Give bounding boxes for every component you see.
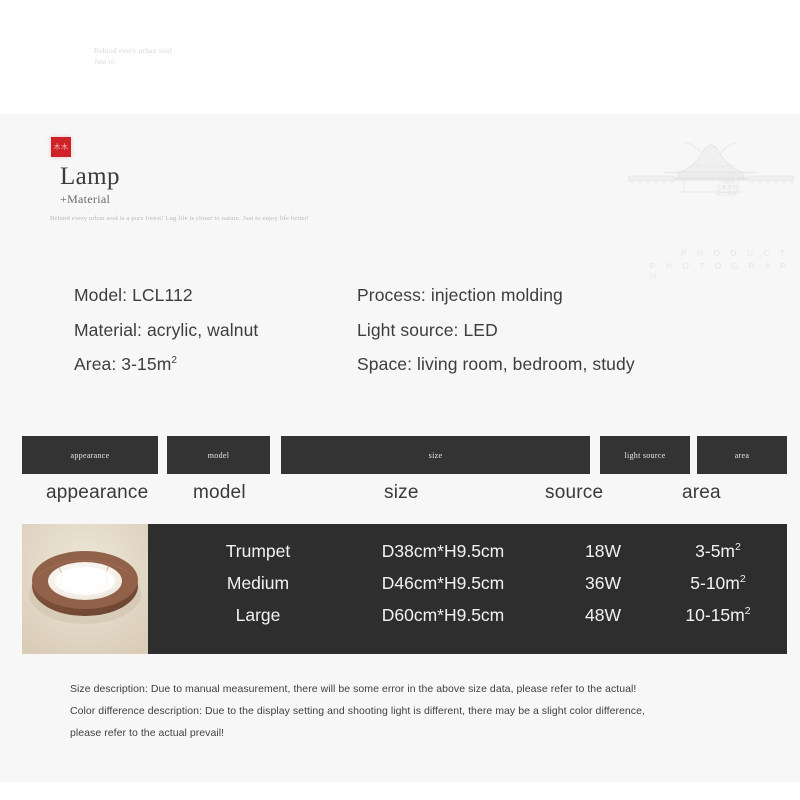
table-row: 5-10m2: [663, 575, 773, 593]
cell-area-sup-1: 2: [735, 541, 741, 553]
spec-area-text: Area: 3-15: [74, 354, 157, 374]
product-watermark-line2: P H O T O G R A P H: [650, 261, 800, 281]
table-row: 3-5m2: [663, 543, 773, 561]
cell-area-sup-3: 2: [745, 605, 751, 617]
table-row: D46cm*H9.5cm: [328, 575, 558, 593]
table-row: 48W: [558, 607, 648, 625]
top-white-strip: Behind every urban soul Just to: [0, 0, 800, 114]
table-row: 18W: [558, 543, 648, 561]
spec-area-sup: 2: [171, 355, 177, 366]
footer-note: Size description: Due to manual measurem…: [70, 678, 760, 744]
cell-power-3: 48W: [585, 605, 621, 625]
spec-process: Process: injection molding: [357, 278, 635, 313]
chip-light-source: light source: [600, 436, 690, 474]
cell-size-1: D38cm*H9.5cm: [382, 541, 505, 561]
column-label-area: area: [682, 482, 721, 504]
chip-area-label: area: [735, 451, 750, 460]
chip-model-label: model: [208, 451, 230, 460]
column-label-appearance: appearance: [46, 482, 148, 504]
cell-size-3: D60cm*H9.5cm: [382, 605, 505, 625]
pavilion-seal-text: 中国风古典建筑设计图样: [716, 180, 738, 198]
table-body: Trumpet D38cm*H9.5cm 18W 3-5m2 Medium D4…: [22, 524, 787, 654]
chip-size-label: size: [429, 451, 443, 460]
table-rows: Trumpet D38cm*H9.5cm 18W 3-5m2 Medium D4…: [148, 524, 787, 654]
spec-model: Model: LCL112: [74, 278, 258, 313]
spec-column-left: Model: LCL112 Material: acrylic, walnut …: [74, 278, 258, 382]
cell-model-3: Large: [236, 605, 281, 625]
chip-size: size: [281, 436, 590, 474]
chip-area: area: [697, 436, 787, 474]
table-row: Medium: [198, 575, 318, 593]
cell-area-sup-2: 2: [740, 573, 746, 585]
table-row: D38cm*H9.5cm: [328, 543, 558, 561]
table-column-labels: appearance model size source area: [0, 482, 800, 514]
cell-power-1: 18W: [585, 541, 621, 561]
table-row: 10-15m2: [663, 607, 773, 625]
column-label-size: size: [384, 482, 419, 504]
cell-area-3: 10-15m: [685, 605, 744, 625]
chip-appearance-label: appearance: [71, 451, 110, 460]
faint-tagline-line1: Behind every urban soul: [94, 45, 314, 56]
cell-area-1: 3-5m: [695, 541, 735, 561]
spec-area-unit: m: [157, 354, 172, 374]
footer-note-color-1: Color difference description: Due to the…: [70, 700, 760, 722]
table-row: 36W: [558, 575, 648, 593]
column-label-model: model: [193, 482, 246, 504]
cell-power-2: 36W: [585, 573, 621, 593]
table-row: D60cm*H9.5cm: [328, 607, 558, 625]
brand-subtitle: +Material: [60, 192, 110, 207]
table-row: Large: [198, 607, 318, 625]
product-thumbnail[interactable]: [22, 524, 148, 654]
chip-light-source-label: light source: [624, 451, 665, 460]
panel-bottom-spacer: [0, 782, 800, 800]
pavilion-illustration-icon: [628, 142, 794, 212]
spec-column-right: Process: injection molding Light source:…: [357, 278, 635, 382]
table-row: Trumpet: [198, 543, 318, 561]
spec-light-source: Light source: LED: [357, 313, 635, 348]
brand-title: Lamp: [60, 163, 120, 191]
table-chip-row: appearance model size light source area: [0, 436, 800, 474]
chip-appearance: appearance: [22, 436, 158, 474]
faint-tagline: Behind every urban soul Just to: [94, 45, 314, 67]
spec-space: Space: living room, bedroom, study: [357, 347, 635, 382]
spec-material: Material: acrylic, walnut: [74, 313, 258, 348]
brand-logo-badge: 木木: [51, 137, 71, 157]
cell-model-2: Medium: [227, 573, 289, 593]
product-watermark-line1: P R O D U C T: [681, 248, 789, 258]
footer-note-size: Size description: Due to manual measurem…: [70, 678, 760, 700]
brand-logo-glyph: 木木: [54, 144, 69, 151]
chip-model: model: [167, 436, 270, 474]
faint-tagline-line2: Just to: [94, 56, 314, 67]
footer-note-color-2: please refer to the actual prevail!: [70, 722, 760, 744]
spec-area: Area: 3-15m2: [74, 347, 258, 382]
brand-description: Behind every urban soul is a pure forest…: [50, 214, 310, 224]
column-label-source: source: [545, 482, 603, 504]
cell-model-1: Trumpet: [226, 541, 291, 561]
cell-size-2: D46cm*H9.5cm: [382, 573, 505, 593]
cell-area-2: 5-10m: [690, 573, 740, 593]
